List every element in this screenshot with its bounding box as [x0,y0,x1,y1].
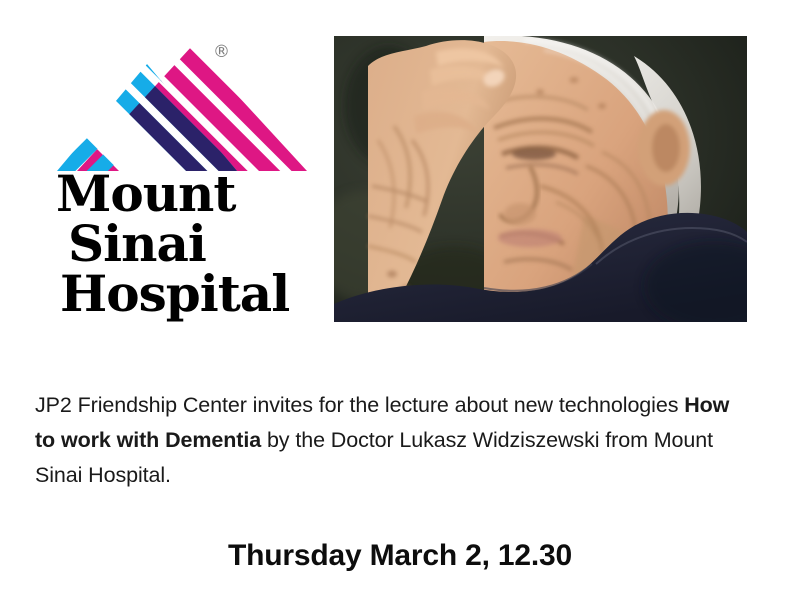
elderly-person-photo [334,36,747,322]
invitation-paragraph: JP2 Friendship Center invites for the le… [35,388,750,493]
logo-wordmark-line-3: Hospital [56,269,326,319]
mount-sinai-mountain-mark-icon [52,36,312,171]
logo-wordmark-line-2: Sinai [56,219,326,269]
logo-wordmark-line-1: Mount [56,169,326,219]
logo-wordmark: Mount Sinai Hospital [56,169,326,319]
invitation-lead-text: JP2 Friendship Center invites for the le… [35,393,684,417]
registered-trademark-icon: ® [213,44,230,61]
event-datetime: Thursday March 2, 12.30 [0,538,800,574]
mount-sinai-logo-block: ® Mount Sinai Hospital [52,36,322,316]
